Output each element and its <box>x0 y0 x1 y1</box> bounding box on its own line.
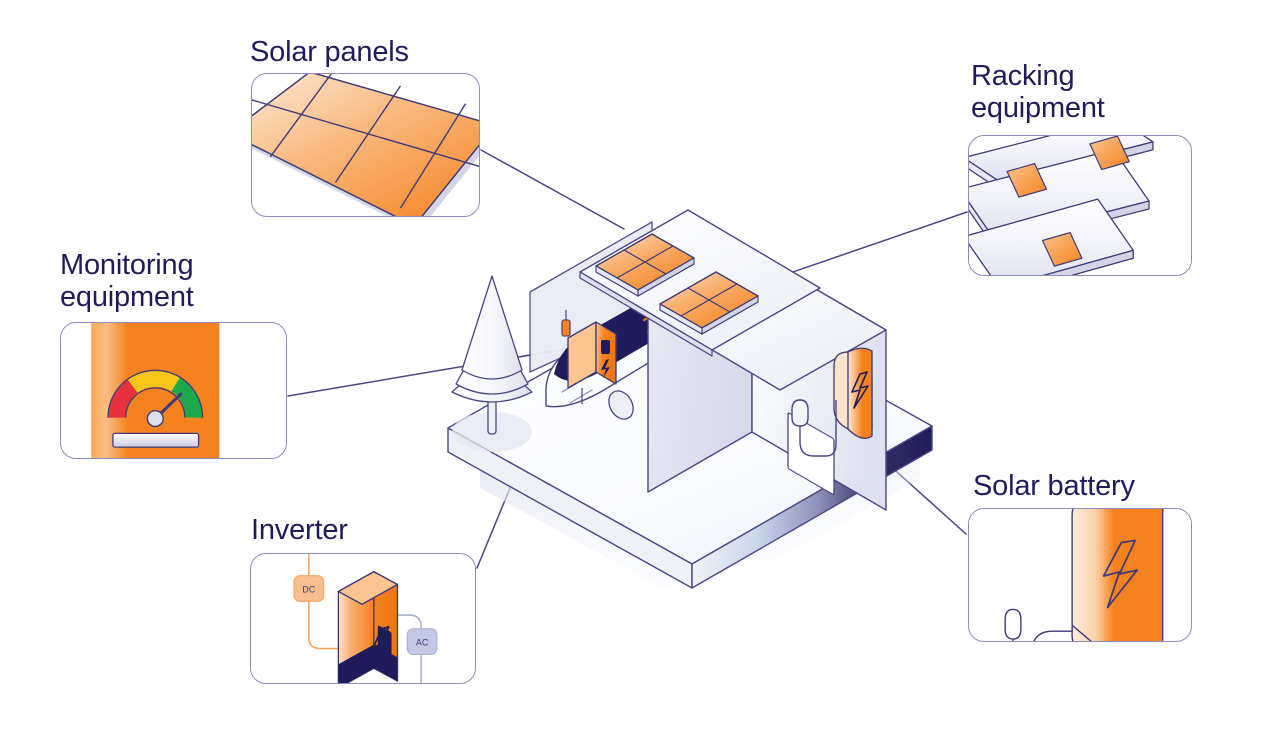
gauge-monitor-icon <box>61 323 286 458</box>
callout-card-solar-panels[interactable] <box>251 73 480 217</box>
callout-label-monitoring-equipment: Monitoring equipment <box>60 249 194 314</box>
callout-label-racking-equipment: Racking equipment <box>971 60 1105 125</box>
callout-card-racking-equipment[interactable] <box>968 135 1192 276</box>
diagram-canvas: Solar panels Racking equipment <box>0 0 1280 744</box>
gauge-hub <box>147 411 163 427</box>
dc-badge: DC <box>294 576 324 602</box>
callout-label-solar-panels: Solar panels <box>250 36 409 68</box>
solar-panel-array-icon <box>252 74 479 216</box>
racking-rails-icon <box>969 136 1191 275</box>
callout-label-solar-battery: Solar battery <box>973 470 1135 502</box>
ac-badge: AC <box>407 629 437 655</box>
dc-badge-label: DC <box>302 584 315 594</box>
conifer-tree <box>452 276 532 452</box>
callout-card-monitoring-equipment[interactable] <box>60 322 287 459</box>
monitor-display-bar <box>113 433 199 447</box>
ac-badge-label: AC <box>416 638 429 648</box>
callout-card-inverter[interactable]: DC AC <box>250 553 476 684</box>
gauge-arc-yellow <box>133 378 176 386</box>
inverter-box-icon: DC AC <box>251 554 475 683</box>
callout-card-solar-battery[interactable] <box>968 508 1192 642</box>
callout-label-inverter: Inverter <box>251 514 348 546</box>
house-illustration <box>420 160 960 590</box>
battery-bolt-icon <box>969 509 1191 641</box>
